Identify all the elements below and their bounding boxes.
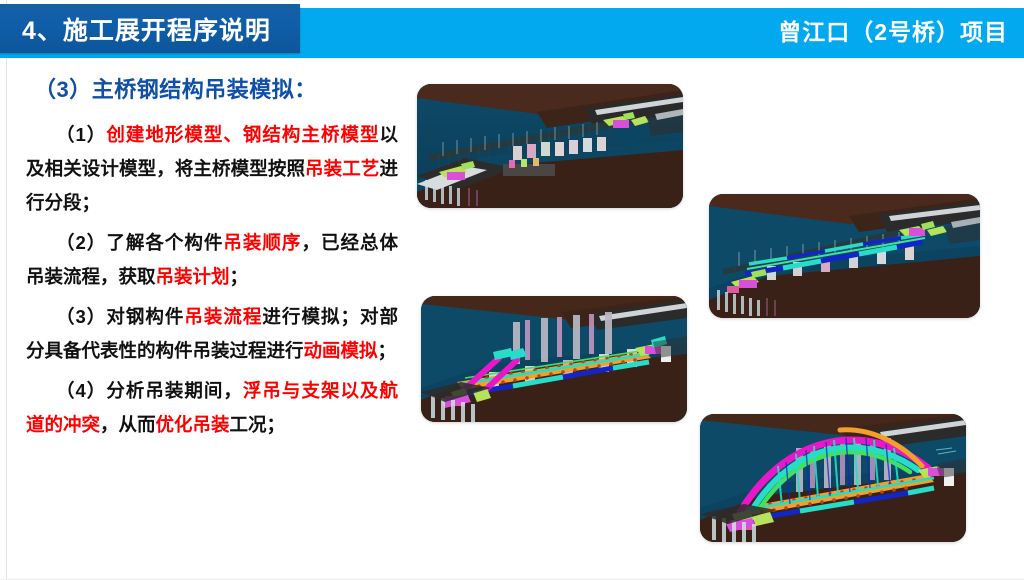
bim-render-terrain-and-piers-image: [417, 84, 683, 208]
body-paragraph-1: （1）创建地形模型、钢结构主桥模型以及相关设计模型，将主桥模型按照吊装工艺进行分…: [26, 118, 398, 220]
highlighted-text-run: 创建地形模型、钢结构主桥模型: [106, 124, 379, 145]
bim-render-girder-segments[interactable]: [709, 194, 980, 318]
slide-left-border: [6, 0, 7, 580]
slide-header: 4、施工展开程序说明 曾江口（2号桥）项目: [0, 0, 1024, 60]
text-run: 工况；: [230, 414, 286, 435]
section-heading: （3）主桥钢结构吊装模拟：: [34, 72, 398, 104]
text-run: （2）了解各个构件: [56, 232, 223, 253]
highlighted-text-run: 吊装计划: [156, 266, 230, 287]
highlighted-text-run: 优化吊装: [156, 414, 230, 435]
header-project-title: 曾江口（2号桥）项目: [778, 13, 1008, 47]
bim-render-girder-segments-image: [709, 194, 980, 318]
body-paragraph-3: （3）对钢构件吊装流程进行模拟；对部分具备代表性的构件吊装过程进行动画模拟；: [26, 300, 398, 368]
content-text-column: （3）主桥钢结构吊装模拟： （1）创建地形模型、钢结构主桥模型以及相关设计模型，…: [26, 72, 398, 572]
header-section-tab: 4、施工展开程序说明: [0, 4, 300, 53]
highlighted-text-run: 吊装流程: [184, 306, 262, 327]
bim-render-arch-rib-lifting[interactable]: [700, 414, 966, 542]
text-run: ；: [378, 340, 397, 361]
highlighted-text-run: 吊装工艺: [305, 158, 379, 179]
highlighted-text-run: 动画模拟: [304, 340, 378, 361]
text-run: （3）对钢构件: [56, 306, 184, 327]
text-run: ；: [230, 266, 249, 287]
body-paragraph-4: （4）分析吊装期间，浮吊与支架以及航道的冲突，从而优化吊装工况；: [26, 374, 398, 442]
bim-render-arch-rib-lifting-image: [700, 414, 966, 542]
bim-render-deck-and-floating-crane[interactable]: [421, 296, 687, 422]
slide-canvas: 4、施工展开程序说明 曾江口（2号桥）项目 （3）主桥钢结构吊装模拟： （1）创…: [0, 0, 1024, 580]
bim-render-deck-and-floating-crane-image: [421, 296, 687, 422]
text-run: ，从而: [100, 414, 156, 435]
text-run: （4）分析吊装期间，: [56, 380, 243, 401]
body-paragraph-2: （2）了解各个构件吊装顺序，已经总体吊装流程，获取吊装计划；: [26, 226, 398, 294]
header-section-title: 4、施工展开程序说明: [22, 11, 271, 47]
text-run: （1）: [56, 124, 106, 145]
highlighted-text-run: 吊装顺序: [223, 232, 301, 253]
bim-render-terrain-and-piers[interactable]: [417, 84, 683, 208]
